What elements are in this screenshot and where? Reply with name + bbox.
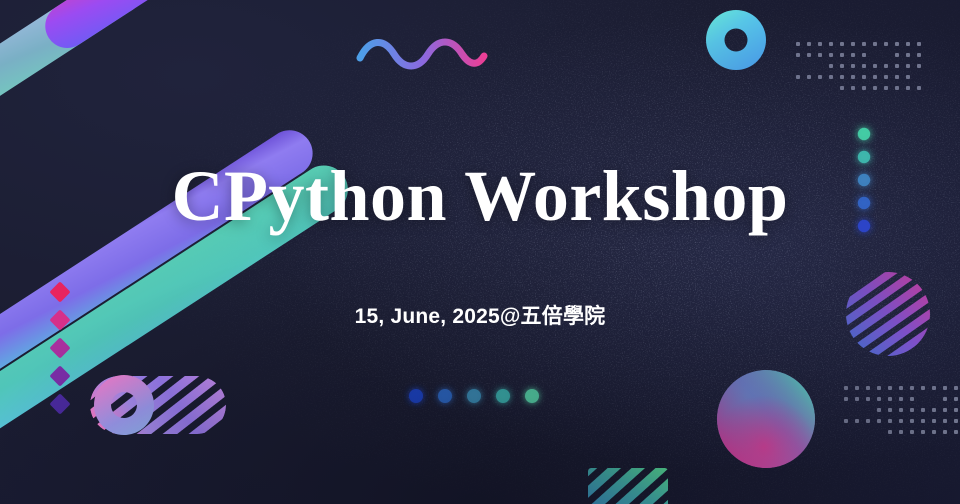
background-vignette xyxy=(0,0,960,504)
poster-canvas: CPython Workshop 15, June, 2025@五倍學院 xyxy=(0,0,960,504)
event-subtitle: 15, June, 2025@五倍學院 xyxy=(0,300,960,330)
page-title: CPython Workshop xyxy=(0,160,960,232)
